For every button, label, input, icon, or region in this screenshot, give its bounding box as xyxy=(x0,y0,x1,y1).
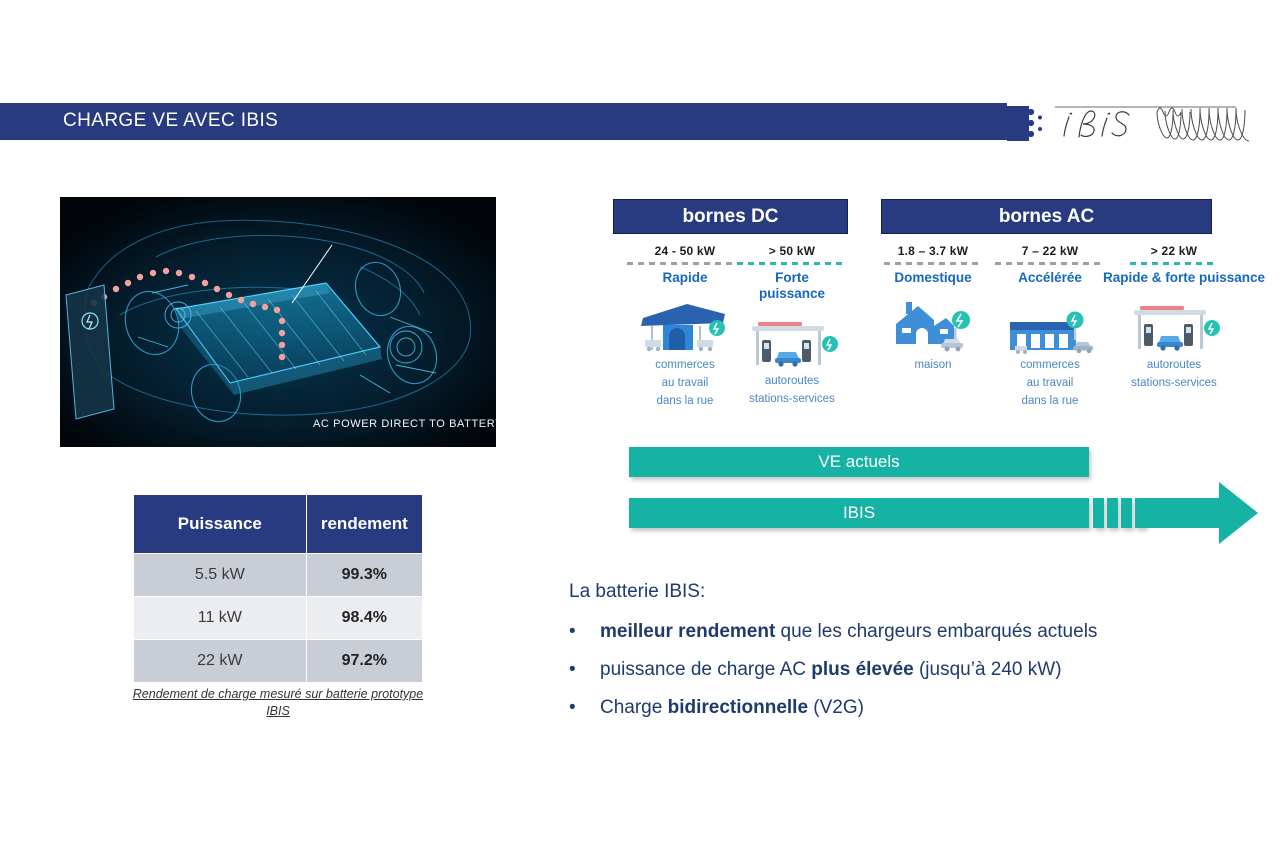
page-title: CHARGE VE AVEC IBIS xyxy=(63,110,278,132)
power-range: > 22 kW xyxy=(1103,244,1245,258)
cell-puissance: 11 kW xyxy=(134,597,307,640)
cell-rendement: 97.2% xyxy=(306,640,422,683)
place-line: commerces xyxy=(995,358,1105,372)
bullet-marker: • xyxy=(569,696,600,720)
bornes-dc-col-forte: > 50 kW Forte puissance autoroutes sta xyxy=(737,244,847,406)
charge-level-line1: Forte xyxy=(737,270,847,286)
logo-dots-block xyxy=(1007,106,1042,141)
dash-rule xyxy=(1130,262,1218,265)
bullet-text: puissance de charge AC xyxy=(600,659,811,680)
cell-rendement: 99.3% xyxy=(306,554,422,597)
logo-wordmark xyxy=(1064,111,1129,137)
charge-level: Rapide xyxy=(627,270,743,286)
place-line: au travail xyxy=(995,376,1105,390)
cell-rendement: 98.4% xyxy=(306,597,422,640)
ibis-logo xyxy=(1007,98,1280,146)
footnote-line-1: Rendement de charge mesuré sur batterie … xyxy=(133,687,423,701)
power-range: 1.8 – 3.7 kW xyxy=(884,244,982,258)
place-line: au travail xyxy=(627,376,743,390)
bullet-marker: • xyxy=(569,620,600,644)
cell-puissance: 5.5 kW xyxy=(134,554,307,597)
dash-rule xyxy=(884,262,982,265)
figure-caption: AC POWER DIRECT TO BATTERY xyxy=(313,418,496,430)
logo-spring-icon xyxy=(1157,107,1249,141)
bullet-item: • Charge bidirectionnelle (V2G) xyxy=(569,696,1229,720)
bullet-strong: bidirectionnelle xyxy=(668,697,808,718)
dash-rule xyxy=(737,262,847,265)
bornes-ac-col-domestique: 1.8 – 3.7 kW Domestique maison xyxy=(884,244,982,372)
place-line: autoroutes xyxy=(737,374,847,388)
place-line: stations-services xyxy=(1103,376,1245,390)
table-row: 5.5 kW 99.3% xyxy=(134,554,423,597)
table-col-rendement: rendement xyxy=(306,495,422,554)
power-range: > 50 kW xyxy=(737,244,847,258)
conclusion-lead: La batterie IBIS: xyxy=(569,581,705,603)
bornes-ac-col-acceleree: 7 – 22 kW Accélérée commerces au xyxy=(995,244,1105,408)
slide-root: CHARGE VE AVEC IBIS xyxy=(0,0,1280,853)
bar-ve-actuels: VE actuels xyxy=(629,447,1089,477)
bullet-item: • meilleur rendement que les chargeurs e… xyxy=(569,620,1229,644)
conclusion-bullets: • meilleur rendement que les chargeurs e… xyxy=(569,620,1229,734)
table-header-row: Puissance rendement xyxy=(134,495,423,554)
progress-arrow-icon xyxy=(1145,480,1260,546)
place-line: maison xyxy=(884,358,982,372)
bullet-strong: plus élevée xyxy=(811,659,913,680)
cell-puissance: 22 kW xyxy=(134,640,307,683)
place-line: dans la rue xyxy=(627,394,743,408)
shop-charging-icon xyxy=(627,292,743,354)
charge-level-line2: puissance xyxy=(737,286,847,302)
bornes-dc-title: bornes DC xyxy=(613,199,848,234)
place-line: autoroutes xyxy=(1103,358,1245,372)
shop-charging-icon xyxy=(995,292,1105,354)
place-line: dans la rue xyxy=(995,394,1105,408)
bar-segment xyxy=(1093,498,1104,528)
bullet-marker: • xyxy=(569,658,600,682)
bullet-text: (jusqu’à 240 kW) xyxy=(914,659,1062,680)
power-range: 7 – 22 kW xyxy=(995,244,1105,258)
charge-level: Domestique xyxy=(884,270,982,286)
efficiency-table: Puissance rendement 5.5 kW 99.3% 11 kW 9… xyxy=(133,494,423,683)
power-range: 24 - 50 kW xyxy=(627,244,743,258)
bullet-strong: meilleur rendement xyxy=(600,621,775,642)
table-row: 11 kW 98.4% xyxy=(134,597,423,640)
dash-rule xyxy=(995,262,1105,265)
charge-level: Accélérée xyxy=(995,270,1105,286)
house-charging-icon xyxy=(884,292,982,354)
bullet-item: • puissance de charge AC plus élevée (ju… xyxy=(569,658,1229,682)
bar-segment xyxy=(1107,498,1118,528)
place-line: commerces xyxy=(627,358,743,372)
table-footnote: Rendement de charge mesuré sur batterie … xyxy=(113,686,443,720)
dash-rule xyxy=(627,262,743,265)
charge-level: Rapide & forte puissance xyxy=(1103,270,1245,286)
table-row: 22 kW 97.2% xyxy=(134,640,423,683)
bullet-text: que les chargeurs embarqués actuels xyxy=(775,621,1097,642)
highway-station-icon xyxy=(1103,292,1245,354)
bullet-text: (V2G) xyxy=(808,697,864,718)
table-col-puissance: Puissance xyxy=(134,495,307,554)
bar-segment xyxy=(1121,498,1132,528)
bornes-dc-col-rapide: 24 - 50 kW Rapide commerces au travail d… xyxy=(627,244,743,408)
ev-battery-xray-image: AC POWER DIRECT TO BATTERY xyxy=(60,197,496,447)
bornes-ac-col-rapide-forte: > 22 kW Rapide & forte puissance autorou… xyxy=(1103,244,1245,390)
place-line: stations-services xyxy=(737,392,847,406)
bornes-ac-title: bornes AC xyxy=(881,199,1212,234)
footnote-line-2: IBIS xyxy=(266,704,290,718)
highway-station-icon xyxy=(737,308,847,370)
bar-ibis: IBIS xyxy=(629,498,1089,528)
bullet-text: Charge xyxy=(600,697,668,718)
